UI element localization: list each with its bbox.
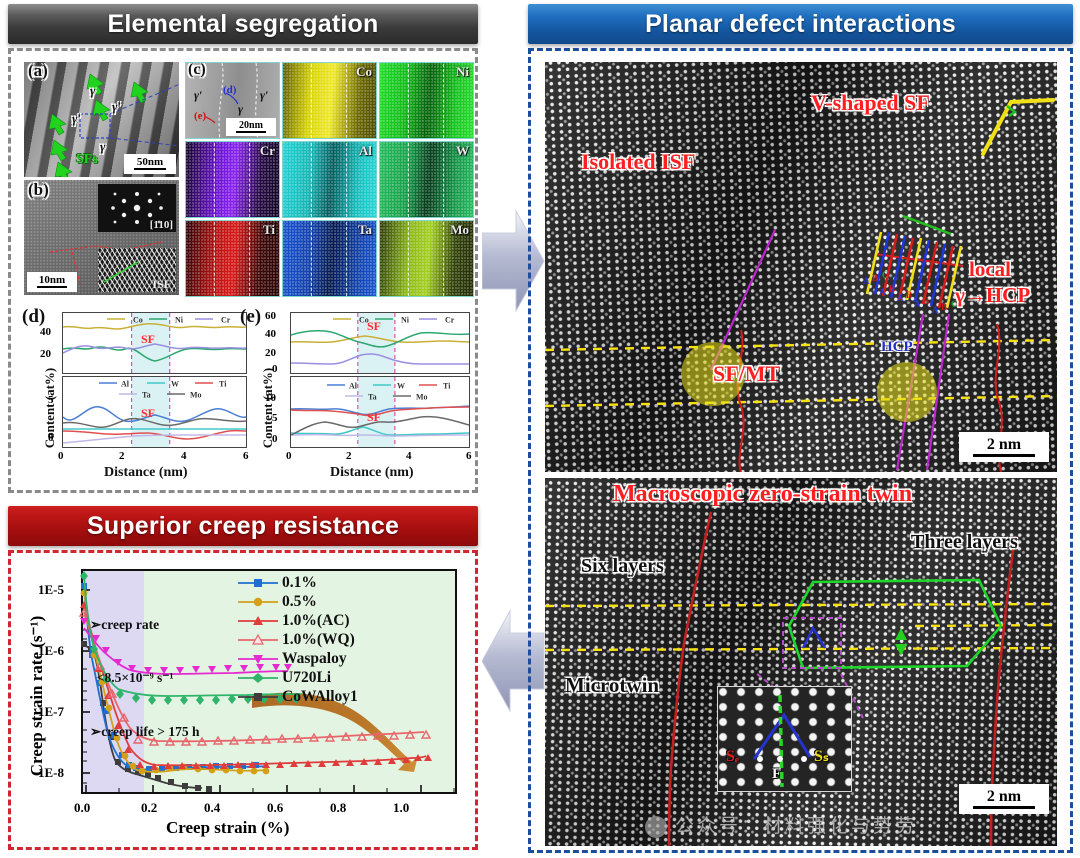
panel-a-gamma-prime-1: γ′ (112, 100, 121, 114)
svg-text:Al: Al (121, 380, 130, 389)
inset-label-se: Sₑ (726, 749, 739, 766)
hrtem-bottom-image: Macroscopic zero-strain twin Six layers … (545, 478, 1057, 846)
panel-b-fft-inset: [110] (98, 184, 176, 232)
svg-text:Co: Co (133, 316, 143, 325)
panel-c-gamma-prime-right: γ′ (260, 89, 268, 102)
hrtem-bottom-inset: Sₑ F Sₛ (717, 686, 852, 792)
label-six-layers: Six layers (581, 556, 664, 577)
panel-d-ytick-5: 5 (48, 394, 54, 406)
panel-d-ylabel: Content (at%) (42, 353, 58, 463)
panel-e-bytick-0: 0 (272, 433, 278, 445)
panel-e-top-svg: Co Ni Cr SF (291, 313, 469, 373)
legend-item-2: 1.0%(AC) (238, 612, 358, 630)
svg-text:Ni: Ni (175, 316, 184, 325)
banner-planar-defects: Planar defect interactions (528, 4, 1073, 44)
panel-c-callout-d: (d) (223, 85, 236, 97)
panel-c-tag: (c) (188, 62, 206, 79)
eds-label-w: W (456, 143, 469, 159)
label-hcp: HCP (881, 340, 913, 356)
eds-map-cr: Cr (185, 141, 280, 218)
panel-e-bottom-svg: Al W Ti Ta Mo SF (291, 377, 469, 447)
svg-text:B: B (923, 296, 929, 306)
svg-text:Ta: Ta (368, 393, 377, 402)
legend-item-0: 0.1% (238, 574, 358, 592)
panel-d-xlabel: Distance (nm) (104, 465, 188, 481)
eds-label-al: Al (359, 143, 372, 159)
svg-text:Ti: Ti (219, 380, 227, 389)
panel-b-isf-label: ISF (152, 278, 171, 291)
svg-text:A: A (863, 276, 870, 286)
legend-label-2: 1.0%(AC) (282, 612, 350, 630)
panel-c-gamma-prime-left: γ′ (194, 89, 202, 102)
panel-e-bottom-plot: Al W Ti Ta Mo SF (290, 376, 470, 448)
panel-c-callout-e: (e) (194, 111, 206, 123)
creep-annotation-line2: <8.5×10⁻⁹ s⁻¹ (90, 669, 199, 687)
eds-map-al: Al (282, 141, 377, 218)
panel-e-top-plot: Co Ni Cr SF (290, 312, 470, 374)
panel-e-ytick-0: 0 (272, 363, 278, 375)
hrtem-top-scale-text: 2 nm (987, 436, 1021, 454)
eds-map-ti: Ti (185, 220, 280, 297)
inset-overlays (718, 687, 852, 792)
svg-text:B: B (941, 302, 947, 312)
panel-d-top-plot: Co Ni Cr SF (62, 312, 247, 374)
svg-text:Ti: Ti (443, 382, 451, 391)
label-microtwin: Microtwin (565, 674, 659, 696)
label-sf-mt: SF/MT (713, 362, 780, 385)
panel-d-ytick-0: 0 (48, 432, 54, 444)
panel-a-sfs-label: SFs (76, 153, 98, 168)
banner-elemental-segregation: Elemental segregation (8, 4, 478, 44)
svg-text:A: A (932, 305, 939, 315)
legend-label-0: 0.1% (282, 574, 317, 592)
creep-annotation-line3: ➢creep life > 175 h (90, 723, 199, 741)
eds-map-w: W (379, 141, 474, 218)
panel-e-xlabel: Distance (nm) (330, 465, 414, 481)
panel-a-gamma-prime-2: γ′ (72, 112, 81, 126)
legend-item-5: U720Li (238, 669, 358, 687)
panel-d-xtick-4: 4 (181, 450, 187, 462)
svg-text:B: B (889, 284, 895, 294)
label-zero-strain-twin: Macroscopic zero-strain twin (613, 482, 912, 507)
eds-label-cr: Cr (260, 143, 275, 159)
svg-text:Mo: Mo (190, 391, 202, 400)
banner-elemental-label: Elemental segregation (108, 10, 379, 39)
svg-text:Al: Al (349, 382, 358, 391)
panel-d-ytick-40: 40 (40, 326, 51, 338)
panel-d-bottom-svg: Al W Ti Ta Mo SF (63, 377, 246, 447)
banner-planar-label: Planar defect interactions (645, 10, 956, 39)
panel-b-micrograph: [110] ISF (b) 10nm (24, 180, 179, 295)
panel-b-hr-inset: ISF (98, 248, 176, 292)
hrtem-top-scalebar: 2 nm (959, 432, 1049, 462)
svg-text:A: A (914, 299, 921, 309)
panel-c-gamma: γ (238, 103, 243, 116)
eds-label-ta: Ta (358, 222, 372, 238)
creep-annotation: ➢creep rate <8.5×10⁻⁹ s⁻¹ ➢creep life > … (90, 580, 199, 776)
panel-e-xtick-0: 0 (286, 450, 292, 462)
panel-e-tag: (e) (240, 306, 261, 328)
eds-label-ti: Ti (263, 222, 275, 238)
panel-c-haadf: (c) γ′ γ′ γ (d) (e) 20nm (185, 62, 280, 139)
panel-b-scalebar: 10nm (27, 272, 77, 292)
svg-text:Cr: Cr (445, 316, 455, 325)
legend-item-1: 0.5% (238, 593, 358, 611)
svg-text:Mo: Mo (416, 393, 428, 402)
svg-text:A: A (879, 287, 886, 297)
panel-e-bytick-5: 5 (272, 412, 278, 424)
svg-text:C: C (882, 270, 889, 280)
legend-item-6: CoWAlloy1 (238, 688, 358, 706)
panel-e-xtick-6: 6 (466, 450, 472, 462)
eds-label-ni: Ni (456, 64, 469, 80)
legend-label-1: 0.5% (282, 593, 317, 611)
eds-label-co: Co (356, 64, 372, 80)
watermark-badge (645, 816, 667, 838)
panel-d-tag: (d) (22, 306, 45, 328)
eds-map-mo: Mo (379, 220, 474, 297)
panel-a-micrograph: (a) γ γ′ γ′ γ SFs 50nm (24, 62, 179, 177)
banner-creep-label: Superior creep resistance (87, 512, 399, 541)
panel-a-tag: (a) (28, 62, 48, 80)
svg-text:Ni: Ni (401, 316, 410, 325)
panel-e-ytick-20: 20 (265, 347, 276, 359)
svg-text:SF: SF (367, 319, 381, 333)
svg-text:B: B (872, 273, 878, 283)
eds-label-mo: Mo (450, 222, 469, 238)
eds-map-ni: Ni (379, 62, 474, 139)
panel-c-scale-text: 20nm (239, 120, 263, 131)
panel-a-scale-text: 50nm (137, 156, 163, 168)
panel-e-xtick-4: 4 (406, 450, 412, 462)
label-three-layers: Three layers (911, 532, 1018, 553)
panel-d-bottom-plot: Al W Ti Ta Mo SF (62, 376, 247, 448)
panel-a-gamma-1: γ (90, 84, 95, 98)
panel-e-xtick-2: 2 (346, 450, 352, 462)
panel-d-xtick-0: 0 (58, 450, 64, 462)
panel-e-bytick-10: 10 (265, 392, 276, 404)
creep-legend: 0.1% 0.5% 1.0%(AC) 1.0%(WQ) Waspaloy U72… (238, 574, 358, 707)
label-v-shaped-sf: V-shaped SF (811, 91, 930, 114)
panel-b-zone-axis: [110] (150, 220, 173, 232)
svg-text:SF: SF (367, 410, 381, 424)
svg-text:B: B (906, 290, 912, 300)
hrtem-top-image: A B C A B A B A B A B C Isolated ISF V-s… (545, 62, 1057, 472)
svg-text:SF: SF (141, 406, 155, 420)
legend-label-6: CoWAlloy1 (282, 688, 358, 706)
creep-chart: Creep strain rate (s⁻¹) Creep strain (%)… (16, 556, 470, 844)
legend-label-3: 1.0%(WQ) (282, 631, 355, 649)
figure-root: Elemental segregation (a) γ γ′ γ′ γ (0, 0, 1080, 858)
panel-a-scalebar: 50nm (124, 154, 176, 174)
legend-item-4: Waspaloy (238, 650, 358, 668)
creep-annotation-line1: ➢creep rate (90, 616, 199, 634)
label-local-hcp-line1: local (969, 258, 1011, 280)
legend-label-4: Waspaloy (282, 650, 347, 668)
watermark-text: 公众号：材料强化与势劳 (675, 811, 917, 838)
panel-b-tag: (b) (28, 181, 49, 199)
legend-item-3: 1.0%(WQ) (238, 631, 358, 649)
hrtem-bottom-scale-text: 2 nm (987, 788, 1021, 806)
label-isolated-isf: Isolated ISF (581, 150, 695, 173)
svg-text:Cr: Cr (221, 316, 231, 325)
svg-text:W: W (397, 382, 405, 391)
panel-e-ytick-60: 60 (265, 310, 276, 322)
panel-d-top-svg: Co Ni Cr SF (63, 313, 246, 373)
panel-d-ytick-20: 20 (40, 348, 51, 360)
panel-b-scale-text: 10nm (39, 274, 65, 286)
label-local-hcp-line2: γ→HCP (955, 284, 1030, 306)
panel-d-xtick-6: 6 (243, 450, 249, 462)
hrtem-bottom-scalebar: 2 nm (959, 784, 1049, 814)
panel-c-scalebar: 20nm (226, 118, 276, 136)
inset-label-ss: Sₛ (814, 749, 829, 766)
panel-d-xtick-2: 2 (119, 450, 125, 462)
svg-text:W: W (171, 380, 179, 389)
svg-text:SF: SF (141, 332, 155, 346)
banner-creep-resistance: Superior creep resistance (8, 506, 478, 546)
svg-text:Ta: Ta (142, 391, 151, 400)
svg-text:A: A (897, 293, 904, 303)
legend-label-5: U720Li (282, 669, 331, 687)
panel-a-gamma-2: γ (100, 140, 105, 154)
eds-map-ta: Ta (282, 220, 377, 297)
eds-map-co: Co (282, 62, 377, 139)
panel-e-ytick-40: 40 (265, 328, 276, 340)
inset-label-f: F (772, 767, 781, 783)
